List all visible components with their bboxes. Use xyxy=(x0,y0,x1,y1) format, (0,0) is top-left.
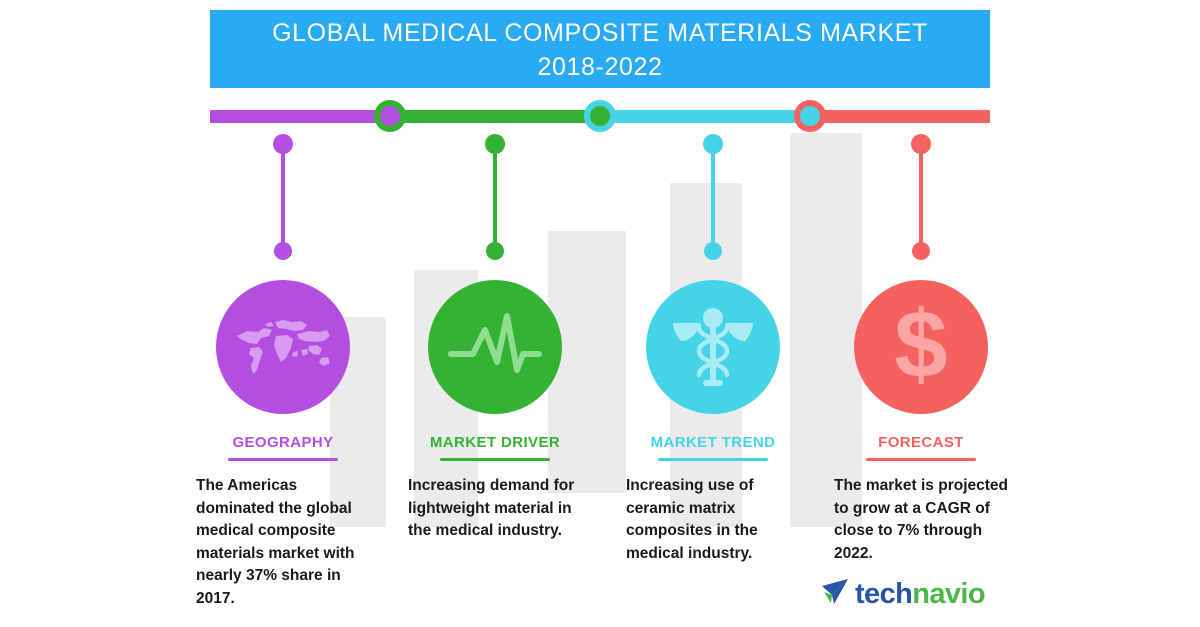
paper-plane-icon xyxy=(820,578,850,611)
heartbeat-pulse-icon xyxy=(447,310,543,384)
icon-bubble-forecast: $ xyxy=(854,280,988,414)
timeline-segment-market-driver xyxy=(380,110,610,123)
stem-dot-bottom-icon xyxy=(274,242,292,260)
timeline-bar xyxy=(210,100,990,132)
page-title-line-2: 2018-2022 xyxy=(538,50,663,84)
connector-stem-forecast xyxy=(828,130,1014,280)
timeline-segment-forecast xyxy=(800,110,990,123)
timeline-segment-market-trend xyxy=(590,110,820,123)
stem-line xyxy=(493,152,497,248)
column-body-market-trend: Increasing use of ceramic matrix composi… xyxy=(620,475,806,565)
timeline-node-geography-driver xyxy=(374,100,406,132)
stem-dot-bottom-icon xyxy=(912,242,930,260)
stem-dot-bottom-icon xyxy=(486,242,504,260)
stem-dot-top-icon xyxy=(703,134,723,154)
column-rule-market-trend xyxy=(658,458,768,461)
timeline-node-trend-forecast xyxy=(794,100,826,132)
background-bar-chart xyxy=(0,0,1200,627)
timeline-node-driver-trend xyxy=(584,100,616,132)
stem-line xyxy=(711,152,715,248)
stem-line xyxy=(281,152,285,248)
column-rule-geography xyxy=(228,458,338,461)
column-market-trend: MARKET TREND Increasing use of ceramic m… xyxy=(620,130,806,565)
stem-dot-top-icon xyxy=(273,134,293,154)
column-heading-geography: GEOGRAPHY xyxy=(190,434,376,451)
page-title-line-1: GLOBAL MEDICAL COMPOSITE MATERIALS MARKE… xyxy=(272,16,928,50)
column-geography: GEOGRAPHY The Americas dominated the glo… xyxy=(190,130,376,610)
header-banner: GLOBAL MEDICAL COMPOSITE MATERIALS MARKE… xyxy=(210,10,990,88)
connector-stem-market-driver xyxy=(402,130,588,280)
technavio-logo: tech navio xyxy=(820,578,985,611)
column-body-market-driver: Increasing demand for lightweight materi… xyxy=(402,475,588,543)
logo-word-navio: navio xyxy=(912,580,985,609)
svg-text:$: $ xyxy=(894,299,947,395)
stem-dot-top-icon xyxy=(485,134,505,154)
column-heading-market-trend: MARKET TREND xyxy=(620,434,806,451)
icon-bubble-market-driver xyxy=(428,280,562,414)
infographic-canvas: GLOBAL MEDICAL COMPOSITE MATERIALS MARKE… xyxy=(0,0,1200,627)
connector-stem-geography xyxy=(190,130,376,280)
icon-bubble-geography xyxy=(216,280,350,414)
connector-stem-market-trend xyxy=(620,130,806,280)
column-body-forecast: The market is projected to grow at a CAG… xyxy=(828,475,1014,565)
column-heading-forecast: FORECAST xyxy=(828,434,1014,451)
logo-word-tech: tech xyxy=(855,580,912,609)
dollar-sign-icon: $ xyxy=(884,299,958,395)
globe-world-map-icon xyxy=(231,316,335,378)
stem-line xyxy=(919,152,923,248)
stem-dot-bottom-icon xyxy=(704,242,722,260)
caduceus-medical-icon xyxy=(667,301,759,393)
column-forecast: $ FORECAST The market is projected to gr… xyxy=(828,130,1014,565)
icon-bubble-market-trend xyxy=(646,280,780,414)
column-heading-market-driver: MARKET DRIVER xyxy=(402,434,588,451)
column-body-geography: The Americas dominated the global medica… xyxy=(190,475,376,610)
column-market-driver: MARKET DRIVER Increasing demand for ligh… xyxy=(402,130,588,543)
column-rule-market-driver xyxy=(440,458,550,461)
stem-dot-top-icon xyxy=(911,134,931,154)
column-rule-forecast xyxy=(866,458,976,461)
